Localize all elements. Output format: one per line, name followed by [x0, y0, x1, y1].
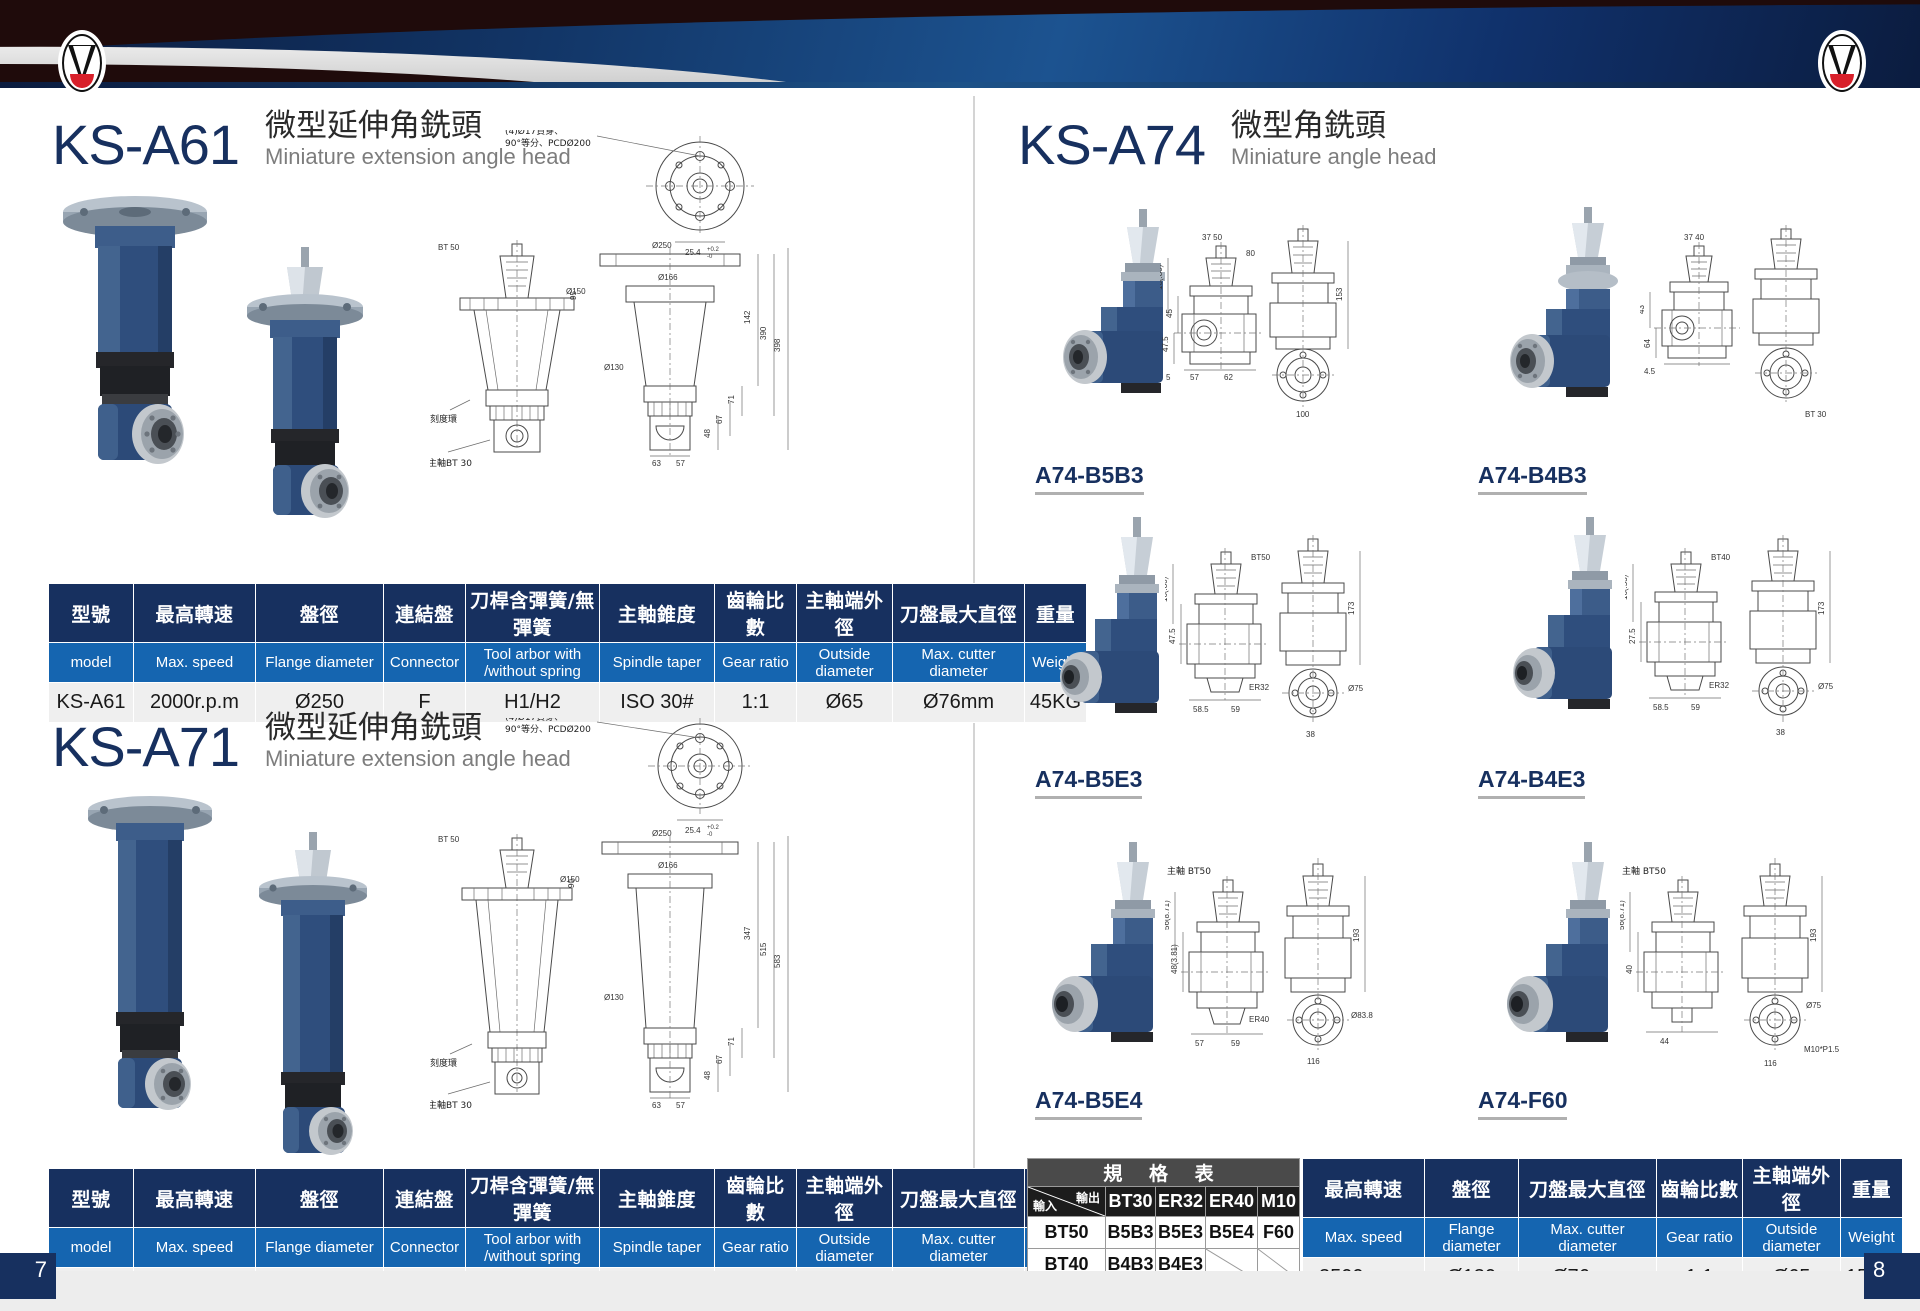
- svg-text:90°等分、PCDØ200: 90°等分、PCDØ200: [505, 723, 591, 735]
- svg-text:398: 398: [773, 338, 782, 352]
- col-header-zh-max-speed: 最高轉速: [134, 584, 256, 643]
- svg-text:38: 38: [1776, 728, 1785, 737]
- svg-text:43: 43: [1640, 305, 1646, 314]
- svg-text:4.5: 4.5: [1644, 367, 1656, 376]
- col-header-zh-tool-arbor: 刀桿含彈簧/無彈簧: [466, 1169, 600, 1228]
- technical-drawing-ks-a61: (4)Ø17貫穿、 90°等分、PCDØ200 25.4 +0.2 -0 BT …: [430, 130, 950, 560]
- svg-text:45: 45: [1165, 309, 1174, 318]
- svg-text:59: 59: [1231, 705, 1240, 714]
- svg-text:515: 515: [759, 942, 768, 956]
- product-photo-a74-b5e3: [1035, 515, 1185, 765]
- product-photo-ks-a61-right: [215, 245, 405, 535]
- svg-text:56(8.71): 56(8.71): [1165, 900, 1171, 930]
- svg-text:58.5: 58.5: [1653, 703, 1669, 712]
- svg-text:116: 116: [1764, 1059, 1777, 1068]
- svg-text:48: 48: [703, 429, 712, 438]
- svg-text:67: 67: [715, 1055, 724, 1064]
- svg-text:63: 63: [652, 1101, 661, 1110]
- col-header-zh-outside-diameter: 主軸端外徑: [797, 1169, 893, 1228]
- table-header-row-zh: 型號 最高轉速 盤徑 連結盤 刀桿含彈簧/無彈簧 主軸錐度 齒輪比數 主軸端外徑…: [49, 1169, 1087, 1228]
- matrix-corner-cell: 輸出 輸入: [1028, 1187, 1106, 1217]
- col-header-zh-max-speed: 最高轉速: [134, 1169, 256, 1228]
- col-header-en-weight: Weight: [1841, 1218, 1903, 1258]
- matrix-col-er32: ER32: [1156, 1187, 1206, 1217]
- brand-logo-icon-left: [58, 30, 106, 96]
- svg-text:Ø75: Ø75: [1818, 682, 1834, 691]
- svg-text:+0.2: +0.2: [707, 825, 720, 831]
- col-header-en-max-speed: Max. speed: [134, 643, 256, 683]
- col-header-zh-gear-ratio: 齒輪比數: [1657, 1159, 1743, 1218]
- col-header-en-flange-diameter: Flange diameter: [1425, 1218, 1519, 1258]
- col-header-zh-tool-arbor: 刀桿含彈簧/無彈簧: [466, 584, 600, 643]
- matrix-cell-bt50-er40: B5E4: [1206, 1217, 1258, 1249]
- technical-drawing-a74-b5b3-side: 153 100: [1240, 225, 1375, 430]
- product-name-zh: 微型角銑頭: [1231, 108, 1436, 144]
- svg-text:57: 57: [676, 459, 685, 468]
- svg-text:M10*P1.5: M10*P1.5: [1804, 1045, 1840, 1054]
- svg-text:刻度環: 刻度環: [430, 413, 457, 425]
- svg-text:100: 100: [1296, 410, 1310, 419]
- svg-text:38: 38: [1306, 730, 1315, 739]
- col-header-en-max-speed: Max. speed: [1303, 1218, 1425, 1258]
- col-header-en-connector: Connector: [384, 643, 466, 683]
- svg-text:BT 50: BT 50: [438, 243, 460, 252]
- svg-text:59: 59: [1691, 703, 1700, 712]
- svg-text:47.5: 47.5: [1168, 628, 1177, 644]
- col-header-en-gear-ratio: Gear ratio: [715, 643, 797, 683]
- matrix-output-label: 輸出: [1076, 1189, 1100, 1206]
- col-header-zh-gear-ratio: 齒輪比數: [715, 584, 797, 643]
- svg-text:主軸BT 30: 主軸BT 30: [430, 457, 472, 469]
- svg-text:5: 5: [1166, 373, 1171, 382]
- svg-text:95: 95: [569, 291, 578, 300]
- variant-label-a74-b4e3: A74-B4E3: [1478, 766, 1585, 799]
- col-header-en-outside-diameter: Outside diameter: [797, 643, 893, 683]
- col-header-zh-connector: 連結盤: [384, 1169, 466, 1228]
- svg-text:Ø250: Ø250: [652, 241, 672, 250]
- matrix-title: 規 格 表: [1028, 1159, 1300, 1187]
- product-heading-ks-a74: KS-A74 微型角銑頭 Miniature angle head: [1018, 108, 1436, 174]
- product-name-en: Miniature angle head: [1231, 144, 1436, 170]
- svg-text:Ø75: Ø75: [1348, 684, 1364, 693]
- col-header-zh-gear-ratio: 齒輪比數: [715, 1169, 797, 1228]
- svg-text:142: 142: [743, 310, 752, 324]
- col-header-zh-max-cutter-diameter: 刀盤最大直徑: [1519, 1159, 1657, 1218]
- spec-table-ks-a61: 型號 最高轉速 盤徑 連結盤 刀桿含彈簧/無彈簧 主軸錐度 齒輪比數 主軸端外徑…: [48, 583, 1087, 723]
- col-header-en-outside-diameter: Outside diameter: [1743, 1218, 1841, 1258]
- col-header-zh-weight: 重量: [1841, 1159, 1903, 1218]
- svg-text:(4)Ø17貫穿、: (4)Ø17貫穿、: [505, 718, 563, 723]
- col-header-zh-flange-diameter: 盤徑: [256, 584, 384, 643]
- svg-text:64: 64: [1643, 339, 1652, 348]
- technical-drawing-a74-b4e3-side: 173 Ø75 38: [1720, 535, 1850, 745]
- svg-text:37 50: 37 50: [1202, 233, 1223, 242]
- product-photo-a74-b4b3: [1490, 205, 1640, 445]
- product-photo-a74-b4e3: [1490, 515, 1640, 765]
- cell-gear-ratio: 1:1: [715, 683, 797, 723]
- col-header-zh-model: 型號: [49, 584, 134, 643]
- svg-text:Ø166: Ø166: [658, 861, 678, 870]
- variant-label-a74-b4b3: A74-B4B3: [1478, 462, 1587, 495]
- col-header-zh-max-cutter-diameter: 刀盤最大直徑: [893, 584, 1025, 643]
- svg-text:主軸BT 30: 主軸BT 30: [430, 1099, 472, 1111]
- col-header-zh-flange-diameter: 盤徑: [1425, 1159, 1519, 1218]
- svg-text:BT 30: BT 30: [1805, 410, 1827, 419]
- product-code: KS-A74: [1018, 116, 1205, 174]
- svg-text:-0: -0: [707, 254, 713, 260]
- svg-text:48: 48: [703, 1071, 712, 1080]
- svg-text:44: 44: [1660, 1037, 1669, 1046]
- svg-text:47.5: 47.5: [1161, 336, 1170, 352]
- svg-text:59: 59: [1231, 1039, 1240, 1048]
- variant-label-a74-b5e3: A74-B5E3: [1035, 766, 1142, 799]
- svg-text:Ø75: Ø75: [1806, 1001, 1822, 1010]
- matrix-col-bt30: BT30: [1106, 1187, 1156, 1217]
- matrix-row-label-bt50: BT50: [1028, 1217, 1106, 1249]
- matrix-header-row: 輸出 輸入 BT30 ER32 ER40 M10: [1028, 1187, 1300, 1217]
- product-photo-ks-a61-left: [40, 190, 230, 520]
- svg-text:57: 57: [676, 1101, 685, 1110]
- svg-text:BT 50: BT 50: [438, 835, 460, 844]
- page-number-right: 8: [1864, 1253, 1920, 1299]
- col-header-en-gear-ratio: Gear ratio: [1657, 1218, 1743, 1258]
- product-photo-ks-a71-left: [60, 790, 240, 1150]
- svg-text:刻度環: 刻度環: [430, 1057, 457, 1069]
- svg-text:56(8.71): 56(8.71): [1620, 900, 1626, 930]
- technical-drawing-a74-b5e4-side: 193 Ø83.8 116: [1255, 858, 1385, 1073]
- svg-text:16(.53): 16(.53): [1625, 574, 1629, 600]
- matrix-cell-bt50-bt30: B5B3: [1106, 1217, 1156, 1249]
- col-header-en-max-cutter-diameter: Max. cutter diameter: [1519, 1218, 1657, 1258]
- col-header-zh-spindle-taper: 主軸錐度: [600, 584, 715, 643]
- cell-max-cutter-diameter: Ø76mm: [893, 683, 1025, 723]
- svg-text:71: 71: [727, 395, 736, 404]
- svg-text:27.5: 27.5: [1628, 628, 1637, 644]
- svg-text:57: 57: [1195, 1039, 1204, 1048]
- svg-text:116: 116: [1307, 1057, 1320, 1066]
- col-header-en-max-cutter-diameter: Max. cutter diameter: [893, 643, 1025, 683]
- cell-spindle-taper: ISO 30#: [600, 683, 715, 723]
- svg-text:62: 62: [1224, 373, 1233, 382]
- svg-text:390: 390: [759, 326, 768, 340]
- product-code: KS-A61: [52, 116, 239, 174]
- matrix-row-bt50: BT50 B5B3 B5E3 B5E4 F60: [1028, 1217, 1300, 1249]
- technical-drawing-a74-b4b3-side: BT 30: [1725, 225, 1855, 425]
- variant-label-a74-b5e4: A74-B5E4: [1035, 1087, 1142, 1120]
- page-banner: [0, 0, 1920, 88]
- svg-text:583: 583: [773, 954, 782, 968]
- svg-text:(4)Ø17貫穿、: (4)Ø17貫穿、: [505, 130, 563, 137]
- col-header-en-model: model: [49, 643, 134, 683]
- matrix-cell-bt50-m10: F60: [1258, 1217, 1300, 1249]
- svg-text:Ø83.8: Ø83.8: [1351, 1011, 1373, 1020]
- svg-text:173: 173: [1817, 601, 1826, 615]
- svg-text:主軸 BT50: 主軸 BT50: [1622, 865, 1666, 877]
- table-header-row-zh: 最高轉速 盤徑 刀盤最大直徑 齒輪比數 主軸端外徑 重量: [1303, 1159, 1903, 1218]
- brand-logo-icon-right: [1818, 30, 1866, 96]
- svg-text:25.4: 25.4: [685, 248, 701, 257]
- svg-text:-0: -0: [707, 832, 713, 838]
- catalog-page-spread: KS-A61 微型延伸角銑頭 Miniature extension angle…: [0, 0, 1920, 1311]
- col-header-zh-outside-diameter: 主軸端外徑: [1743, 1159, 1841, 1218]
- svg-text:173: 173: [1347, 601, 1356, 615]
- svg-text:67: 67: [715, 415, 724, 424]
- col-header-zh-model: 型號: [49, 1169, 134, 1228]
- col-header-zh-connector: 連結盤: [384, 584, 466, 643]
- svg-text:347: 347: [743, 926, 752, 940]
- col-header-en-flange-diameter: Flange diameter: [256, 643, 384, 683]
- col-header-en-tool-arbor: Tool arbor with /without spring: [466, 643, 600, 683]
- product-photo-ks-a71-right: [225, 830, 405, 1170]
- table-header-row-en: Max. speed Flange diameter Max. cutter d…: [1303, 1218, 1903, 1258]
- banner-base-line: [0, 82, 1920, 88]
- product-code: KS-A71: [52, 718, 239, 776]
- variant-label-a74-b5b3: A74-B5B3: [1035, 462, 1144, 495]
- svg-text:71: 71: [727, 1037, 736, 1046]
- svg-text:63: 63: [652, 459, 661, 468]
- svg-text:Ø130: Ø130: [604, 363, 624, 372]
- svg-text:Ø166: Ø166: [658, 273, 678, 282]
- technical-drawing-a74-f60-side: 193 Ø75 M10*P1.5 116: [1712, 858, 1852, 1073]
- col-header-zh-max-cutter-diameter: 刀盤最大直徑: [893, 1169, 1025, 1228]
- svg-text:153: 153: [1335, 287, 1344, 301]
- footer-band: [0, 1271, 1920, 1311]
- col-header-zh-flange-diameter: 盤徑: [256, 1169, 384, 1228]
- svg-text:37 40: 37 40: [1684, 233, 1705, 242]
- technical-drawing-ks-a71: (4)Ø17貫穿、 90°等分、PCDØ200 25.4 +0.2 -0 BT …: [430, 718, 950, 1138]
- product-photo-a74-b5b3: [1035, 205, 1180, 445]
- matrix-col-m10: M10: [1258, 1187, 1300, 1217]
- col-header-zh-spindle-taper: 主軸錐度: [600, 1169, 715, 1228]
- svg-text:58.5: 58.5: [1193, 705, 1209, 714]
- table-header-row-en: model Max. speed Flange diameter Connect…: [49, 643, 1087, 683]
- col-header-zh-max-speed: 最高轉速: [1303, 1159, 1425, 1218]
- svg-text:90: 90: [567, 879, 576, 888]
- svg-text:57: 57: [1190, 373, 1199, 382]
- variant-label-a74-f60: A74-F60: [1478, 1087, 1567, 1120]
- svg-text:48(3.81): 48(3.81): [1170, 944, 1179, 974]
- matrix-cell-bt50-er32: B5E3: [1156, 1217, 1206, 1249]
- svg-text:193: 193: [1809, 928, 1818, 942]
- svg-text:主軸 BT50: 主軸 BT50: [1167, 865, 1211, 877]
- cell-outside-diameter: Ø65: [797, 683, 893, 723]
- svg-text:16(.80): 16(.80): [1165, 576, 1169, 602]
- svg-text:Ø130: Ø130: [604, 993, 624, 1002]
- svg-text:40: 40: [1625, 965, 1634, 974]
- svg-text:Ø250: Ø250: [652, 829, 672, 838]
- table-header-row-zh: 型號 最高轉速 盤徑 連結盤 刀桿含彈簧/無彈簧 主軸錐度 齒輪比數 主軸端外徑…: [49, 584, 1087, 643]
- matrix-col-er40: ER40: [1206, 1187, 1258, 1217]
- matrix-input-label: 輸入: [1033, 1197, 1057, 1214]
- svg-text:25.4: 25.4: [685, 826, 701, 835]
- col-header-en-spindle-taper: Spindle taper: [600, 643, 715, 683]
- page-footer: 7 8: [0, 1253, 1920, 1311]
- svg-text:193: 193: [1352, 928, 1361, 942]
- svg-text:16(.80): 16(.80): [1160, 264, 1164, 290]
- col-header-zh-outside-diameter: 主軸端外徑: [797, 584, 893, 643]
- page-number-left: 7: [0, 1253, 56, 1299]
- svg-text:90°等分、PCDØ200: 90°等分、PCDØ200: [505, 137, 591, 149]
- technical-drawing-a74-b5e3-side: 173 Ø75 38: [1250, 535, 1380, 745]
- svg-text:+0.2: +0.2: [707, 247, 720, 253]
